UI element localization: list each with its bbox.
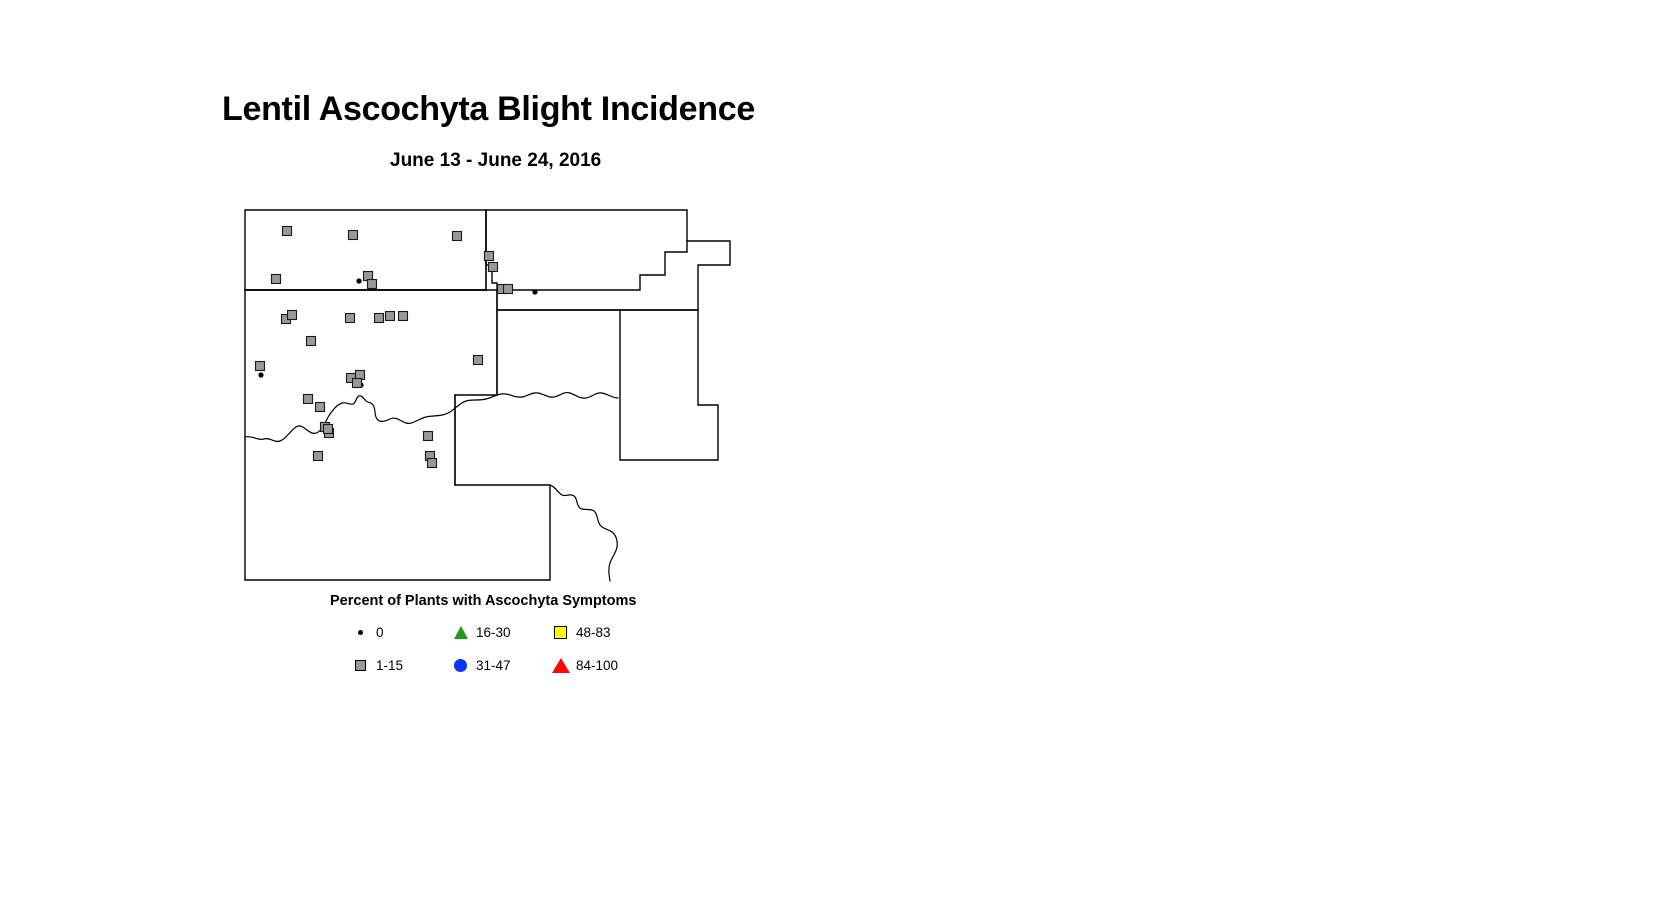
map-marker[interactable]: [532, 289, 537, 294]
map-marker[interactable]: [314, 452, 323, 461]
map-marker[interactable]: [324, 425, 333, 434]
map-svg: [240, 205, 740, 595]
legend-symbol-red-triangle-icon: [550, 656, 572, 674]
map-marker[interactable]: [256, 362, 265, 371]
legend-label-31-47: 31-47: [476, 658, 511, 673]
boundary-right-notch: [687, 241, 730, 310]
data-point-markers: [256, 227, 538, 468]
map-marker[interactable]: [288, 311, 297, 320]
map-marker[interactable]: [316, 403, 325, 412]
region-boundaries: [245, 210, 730, 580]
legend-symbol-blue-circle-icon: [450, 656, 472, 674]
map-marker[interactable]: [272, 275, 281, 284]
map-marker[interactable]: [368, 280, 377, 289]
legend-item-84-100[interactable]: 84-100: [550, 655, 618, 675]
map-marker[interactable]: [428, 459, 437, 468]
legend-item-16-30[interactable]: 16-30: [450, 622, 511, 642]
map-figure: Lentil Ascochyta Blight Incidence June 1…: [0, 0, 1673, 900]
map-marker[interactable]: [356, 278, 361, 283]
river-boundary: [245, 393, 618, 581]
legend-symbol-gray-square-icon: [350, 656, 372, 674]
legend-label-48-83: 48-83: [576, 625, 611, 640]
map-marker[interactable]: [353, 379, 362, 388]
legend-item-1-15[interactable]: 1-15: [350, 655, 403, 675]
legend-symbol-dot-icon: [350, 623, 372, 641]
map-marker[interactable]: [489, 263, 498, 272]
river-path-lower: [550, 485, 617, 581]
figure-subtitle: June 13 - June 24, 2016: [390, 150, 601, 172]
map-marker[interactable]: [424, 432, 433, 441]
map-marker[interactable]: [304, 395, 313, 404]
map-marker[interactable]: [399, 312, 408, 321]
legend-label-0: 0: [376, 625, 384, 640]
map-marker[interactable]: [504, 285, 513, 294]
legend-item-48-83[interactable]: 48-83: [550, 622, 611, 642]
legend-symbol-yellow-square-icon: [550, 623, 572, 641]
map-marker[interactable]: [485, 252, 494, 261]
map-marker[interactable]: [474, 356, 483, 365]
legend-item-0[interactable]: 0: [350, 622, 384, 642]
map-legend: Percent of Plants with Ascochyta Symptom…: [240, 590, 760, 685]
map-marker[interactable]: [375, 314, 384, 323]
map-marker[interactable]: [283, 227, 292, 236]
boundary-southwest-county: [245, 290, 550, 580]
map-marker[interactable]: [453, 232, 462, 241]
map-marker[interactable]: [258, 372, 263, 377]
boundary-east-county: [497, 310, 718, 460]
legend-label-1-15: 1-15: [376, 658, 403, 673]
legend-label-84-100: 84-100: [576, 658, 618, 673]
legend-item-31-47[interactable]: 31-47: [450, 655, 511, 675]
map-canvas[interactable]: [240, 205, 740, 595]
map-marker[interactable]: [346, 314, 355, 323]
legend-symbol-green-triangle-icon: [450, 623, 472, 641]
map-marker[interactable]: [349, 231, 358, 240]
figure-title: Lentil Ascochyta Blight Incidence: [222, 90, 755, 129]
map-marker[interactable]: [307, 337, 316, 346]
map-marker[interactable]: [386, 312, 395, 321]
boundary-northeast-county: [486, 210, 687, 290]
legend-label-16-30: 16-30: [476, 625, 511, 640]
legend-title: Percent of Plants with Ascochyta Symptom…: [330, 593, 636, 609]
